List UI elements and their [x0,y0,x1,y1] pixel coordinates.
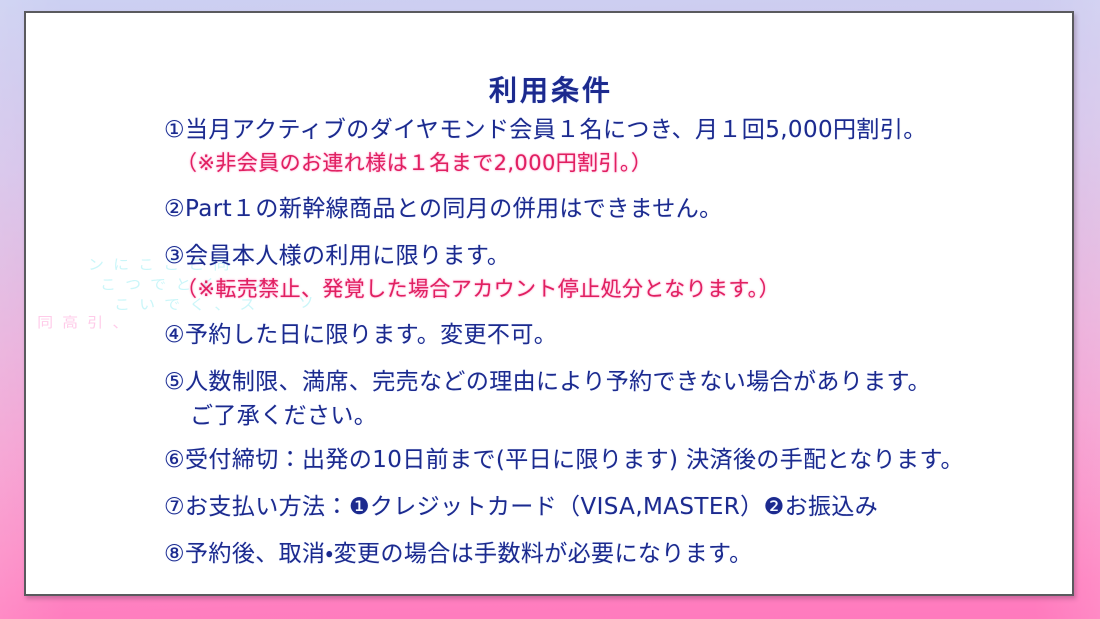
terms-list: ①当月アクティブのダイヤモンド会員１名につき、月１回5,000円割引。 （※非会… [164,113,1064,576]
list-item: ⑥受付締切：出発の10日前まで(平日に限ります) 決済後の手配となります。 [164,443,1064,477]
list-item: ⑧予約後、取消・変更の場合は手数料が必要になります。 [164,537,1064,571]
term-note-line: （※非会員のお連れ様は１名まで2,000円割引。） [164,147,1064,179]
term-note-line: （※転売禁止、発覚した場合アカウント停止処分となります。） [164,273,1064,305]
list-item: ③会員本人様の利用に限ります。 （※転売禁止、発覚した場合アカウント停止処分とな… [164,239,1064,305]
term-main-line: ⑤人数制限、満席、完売などの理由により予約できない場合があります。 [164,365,1064,399]
slide-canvas: ン に こ こ こ 同 こ つ で と く 、 ノ こ い で く 、 ス ん … [0,0,1100,619]
term-main-line: ⑧予約後、取消・変更の場合は手数料が必要になります。 [164,537,1064,571]
list-item: ⑤人数制限、満席、完売などの理由により予約できない場合があります。 ご了承くださ… [164,365,1064,433]
list-item: ⑦お支払い方法：❶クレジットカード（VISA,MASTER）❷お振込み [164,490,1064,524]
term-main-line: ②Part１の新幹線商品との同月の併用はできません。 [164,192,1064,226]
term-continuation-line: ご了承ください。 [164,399,1064,433]
page-title: 利用条件 [26,69,1076,109]
term-main-line: ④予約した日に限ります。変更不可。 [164,318,1064,352]
list-item: ④予約した日に限ります。変更不可。 [164,318,1064,352]
list-item: ②Part１の新幹線商品との同月の併用はできません。 [164,192,1064,226]
document-content: 利用条件 ①当月アクティブのダイヤモンド会員１名につき、月１回5,000円割引。… [26,13,1076,598]
list-item: ①当月アクティブのダイヤモンド会員１名につき、月１回5,000円割引。 （※非会… [164,113,1064,179]
term-main-line: ③会員本人様の利用に限ります。 [164,239,1064,273]
term-main-line: ⑦お支払い方法：❶クレジットカード（VISA,MASTER）❷お振込み [164,490,1064,524]
term-main-line: ①当月アクティブのダイヤモンド会員１名につき、月１回5,000円割引。 [164,113,1064,147]
document-page: ン に こ こ こ 同 こ つ で と く 、 ノ こ い で く 、 ス ん … [24,11,1074,596]
term-main-line: ⑥受付締切：出発の10日前まで(平日に限ります) 決済後の手配となります。 [164,443,1064,477]
